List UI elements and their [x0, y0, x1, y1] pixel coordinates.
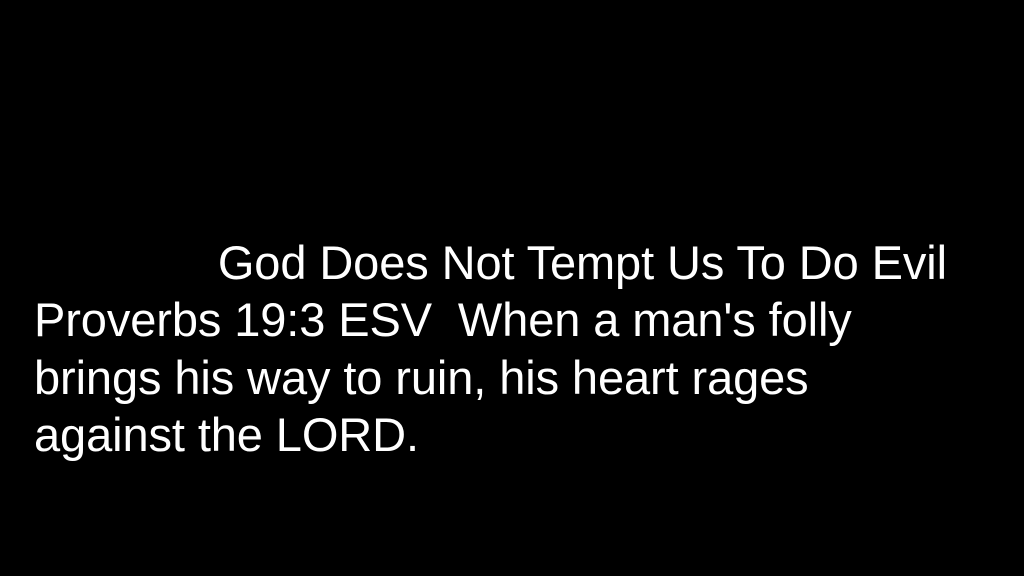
slide-body-text: God Does Not Tempt Us To Do Evil Proverb… [34, 236, 960, 462]
slide-canvas: God Does Not Tempt Us To Do Evil Proverb… [0, 0, 1024, 576]
scripture-text-block: God Does Not Tempt Us To Do Evil Proverb… [34, 176, 950, 521]
